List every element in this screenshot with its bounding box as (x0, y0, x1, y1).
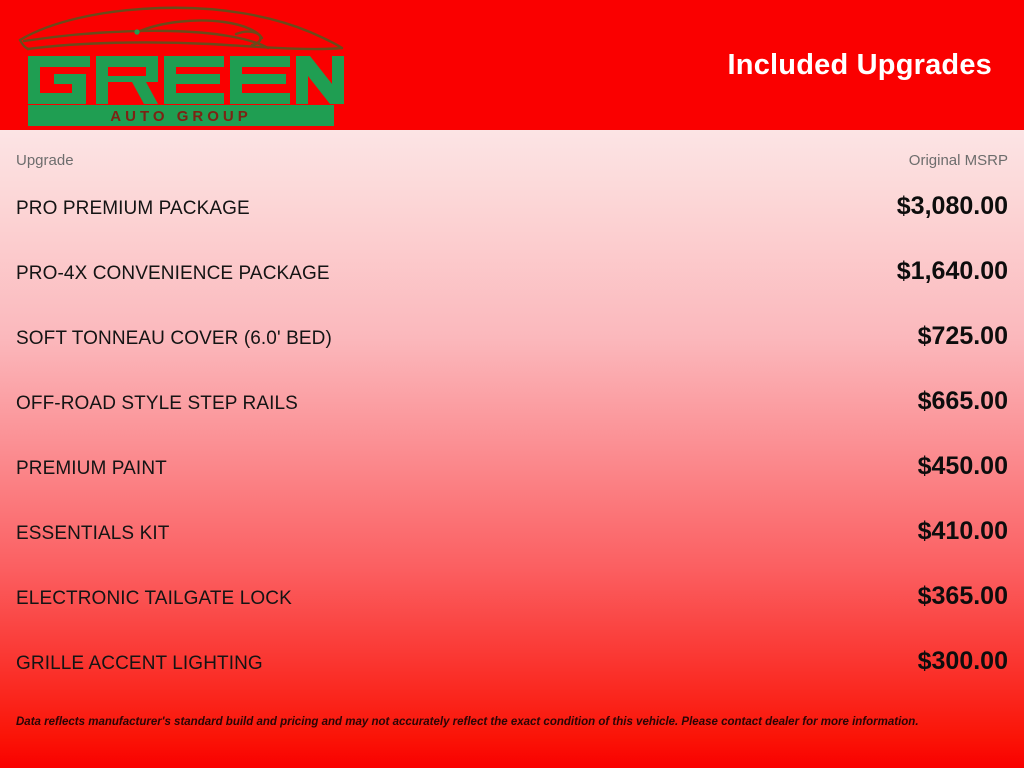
table-row: PREMIUM PAINT $450.00 (16, 438, 1008, 503)
logo-green-wordmark (28, 56, 344, 104)
upgrade-price: $725.00 (918, 322, 1008, 351)
column-header-upgrade: Upgrade (16, 152, 74, 169)
disclaimer-text: Data reflects manufacturer's standard bu… (16, 716, 919, 730)
logo-subline-text: AUTO GROUP (110, 108, 251, 125)
upgrade-price: $1,640.00 (897, 257, 1008, 286)
upgrades-table: Upgrade Original MSRP PRO PREMIUM PACKAG… (0, 130, 1024, 698)
table-row: SOFT TONNEAU COVER (6.0' BED) $725.00 (16, 308, 1008, 373)
upgrade-price: $300.00 (918, 647, 1008, 676)
table-row: OFF-ROAD STYLE STEP RAILS $665.00 (16, 373, 1008, 438)
upgrade-price: $410.00 (918, 517, 1008, 546)
column-header-msrp: Original MSRP (909, 152, 1008, 169)
upgrade-name: PRO PREMIUM PACKAGE (16, 198, 250, 220)
table-row: ESSENTIALS KIT $410.00 (16, 503, 1008, 568)
upgrades-page: AUTO GROUP Included Upgrades Upgrade Ori… (0, 0, 1024, 768)
page-footer: Data reflects manufacturer's standard bu… (0, 710, 1024, 768)
upgrade-name: ELECTRONIC TAILGATE LOCK (16, 588, 292, 610)
page-header: AUTO GROUP Included Upgrades (0, 0, 1024, 130)
upgrade-name: PREMIUM PAINT (16, 458, 167, 480)
table-row: PRO PREMIUM PACKAGE $3,080.00 (16, 178, 1008, 243)
page-title: Included Upgrades (728, 0, 992, 130)
upgrade-name: SOFT TONNEAU COVER (6.0' BED) (16, 328, 332, 350)
upgrade-price: $665.00 (918, 387, 1008, 416)
upgrade-price: $450.00 (918, 452, 1008, 481)
upgrade-price: $3,080.00 (897, 192, 1008, 221)
table-header-row: Upgrade Original MSRP (16, 130, 1008, 178)
upgrade-price: $365.00 (918, 582, 1008, 611)
upgrade-name: PRO-4X CONVENIENCE PACKAGE (16, 263, 330, 285)
car-silhouette-icon (20, 8, 342, 49)
table-row: GRILLE ACCENT LIGHTING $300.00 (16, 633, 1008, 698)
table-row: ELECTRONIC TAILGATE LOCK $365.00 (16, 568, 1008, 633)
upgrade-name: OFF-ROAD STYLE STEP RAILS (16, 393, 298, 415)
dealer-logo: AUTO GROUP (10, 4, 350, 128)
table-row: PRO-4X CONVENIENCE PACKAGE $1,640.00 (16, 243, 1008, 308)
upgrade-name: ESSENTIALS KIT (16, 523, 169, 545)
upgrade-name: GRILLE ACCENT LIGHTING (16, 653, 263, 675)
